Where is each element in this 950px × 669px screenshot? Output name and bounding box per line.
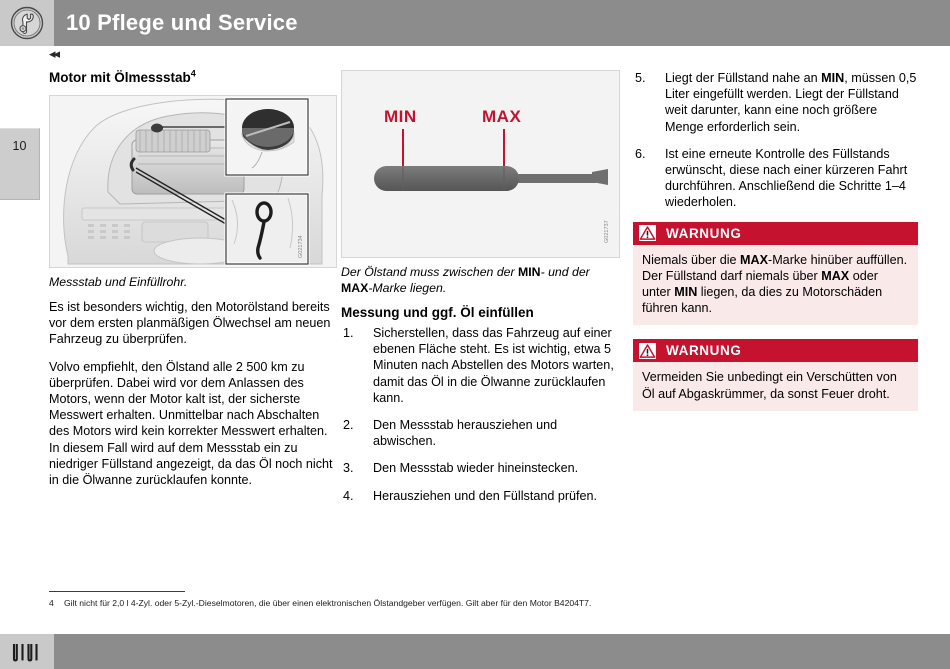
list-item: 1.Sicherstellen, dass das Fahrzeug auf e… — [341, 325, 621, 406]
caption-bold-min: MIN — [518, 265, 541, 279]
warning-seg-1: Vermeiden Sie unbedingt ein Verschütten … — [642, 370, 897, 400]
footnote-divider — [49, 591, 185, 592]
engine-figure-code: G021734 — [298, 235, 304, 258]
back-arrow-icon[interactable]: ◂◂ — [49, 47, 58, 61]
measurement-steps-list: 1.Sicherstellen, dass das Fahrzeug auf e… — [341, 325, 621, 504]
section-title: Motor mit Ölmessstab4 — [49, 70, 337, 86]
engine-bay-illustration: G021734 — [50, 96, 336, 267]
warning-body: Niemals über die MAX-Marke hinüber auffü… — [633, 245, 918, 326]
step-text-seg-1: Ist eine erneute Kontrolle des Füllstand… — [665, 147, 907, 210]
page-footer-bar — [0, 634, 950, 669]
step-number: 2. — [343, 417, 365, 433]
chapter-side-tab[interactable]: 10 — [0, 128, 40, 200]
step-number: 1. — [343, 325, 365, 341]
page-header: 10 Pflege und Service — [0, 0, 950, 46]
page-title: 10 Pflege und Service — [66, 0, 298, 46]
engine-bay-figure: G021734 — [49, 95, 337, 268]
warning-bold-min: MIN — [674, 285, 697, 299]
step-number: 5. — [635, 70, 657, 86]
warning-body: Vermeiden Sie unbedingt ein Verschütten … — [633, 362, 918, 410]
left-paragraph-1: Es ist besonders wichtig, den Motorölsta… — [49, 299, 337, 348]
chapter-icon-box — [0, 0, 54, 46]
step-text-seg-1: Liegt der Füllstand nahe an — [665, 71, 821, 85]
warning-title: WARNUNG — [666, 343, 741, 358]
caption-seg-2: - und der — [541, 265, 590, 279]
section-title-text: Motor mit Ölmessstab — [49, 70, 191, 85]
caption-seg-3: -Marke liegen. — [368, 281, 446, 295]
dipstick-figure-caption: Der Ölstand muss zwischen der MIN- und d… — [341, 264, 621, 296]
step-text: Den Messstab wieder hineinstecken. — [373, 461, 578, 475]
footnote-mark: 4 — [49, 597, 64, 609]
measurement-steps-list-continued: 5.Liegt der Füllstand nahe an MIN, müsse… — [633, 70, 918, 211]
footer-logo-box — [0, 634, 54, 669]
list-item: 4.Herausziehen und den Füllstand prüfen. — [341, 488, 621, 504]
section-title-footnote-mark: 4 — [191, 69, 196, 79]
caption-seg-1: Der Ölstand muss zwischen der — [341, 265, 518, 279]
barcode-mark-icon — [10, 642, 44, 662]
chapter-side-tab-label: 10 — [13, 139, 27, 153]
step-text: Den Messstab herausziehen und abwischen. — [373, 418, 557, 448]
step-text-bold-min: MIN — [821, 71, 844, 85]
warning-header: WARNUNG — [633, 339, 918, 362]
step-number: 6. — [635, 146, 657, 162]
list-item: 3.Den Messstab wieder hineinstecken. — [341, 460, 621, 476]
right-column: 5.Liegt der Füllstand nahe an MIN, müsse… — [633, 70, 918, 425]
warning-header: WARNUNG — [633, 222, 918, 245]
middle-column: MIN MAX G021737 Der Ölstand muss zwisc — [341, 70, 621, 515]
footnote-text: Gilt nicht für 2,0 l 4-Zyl. oder 5-Zyl.-… — [64, 598, 591, 608]
warning-box: WARNUNG Niemals über die MAX-Marke hinüb… — [633, 222, 918, 326]
warning-bold-max-2: MAX — [821, 269, 849, 283]
warning-box: WARNUNG Vermeiden Sie unbedingt ein Vers… — [633, 339, 918, 410]
left-column: Motor mit Ölmessstab4 — [49, 70, 337, 499]
left-paragraph-2: Volvo empfiehlt, den Ölstand alle 2 500 … — [49, 359, 337, 489]
step-text: Sicherstellen, dass das Fahrzeug auf ein… — [373, 326, 614, 405]
step-number: 3. — [343, 460, 365, 476]
engine-figure-caption: Messstab und Einfüllrohr. — [49, 274, 337, 290]
warning-triangle-icon — [639, 343, 656, 359]
warning-title: WARNUNG — [666, 226, 741, 241]
step-text: Herausziehen und den Füllstand prüfen. — [373, 489, 597, 503]
wrench-circle-icon — [10, 6, 44, 40]
dipstick-figure-code: G021737 — [604, 220, 610, 243]
warning-bold-max-1: MAX — [740, 253, 768, 267]
sub-section-title: Messung und ggf. Öl einfüllen — [341, 305, 621, 321]
warning-triangle-icon — [639, 225, 656, 241]
footnote: 4Gilt nicht für 2,0 l 4-Zyl. oder 5-Zyl.… — [49, 597, 909, 609]
caption-bold-max: MAX — [341, 281, 368, 295]
dipstick-illustration: G021737 — [342, 71, 619, 257]
list-item: 6.Ist eine erneute Kontrolle des Füllsta… — [633, 146, 918, 211]
list-item: 5.Liegt der Füllstand nahe an MIN, müsse… — [633, 70, 918, 135]
warning-seg-1: Niemals über die — [642, 253, 740, 267]
dipstick-figure: MIN MAX G021737 — [341, 70, 620, 258]
step-number: 4. — [343, 488, 365, 504]
list-item: 2.Den Messstab herausziehen und abwische… — [341, 417, 621, 449]
